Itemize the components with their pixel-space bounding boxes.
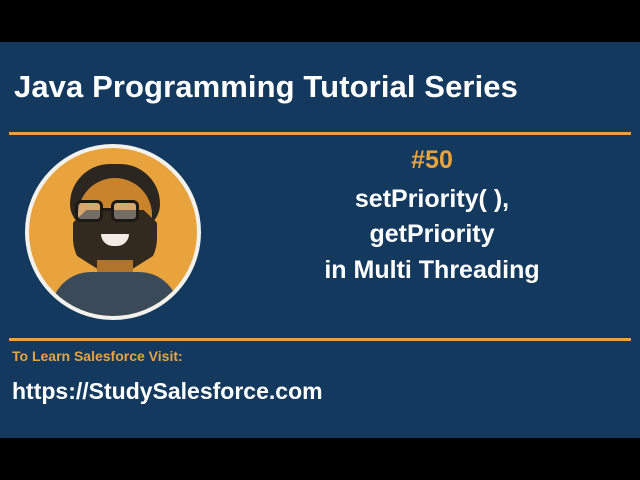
video-frame: Java Programming Tutorial Series #5 [0,0,640,480]
topic-line-1: setPriority( ), [232,182,632,218]
slide-body: #50 setPriority( ), getPriority in Multi… [0,135,640,338]
topic-column: #50 setPriority( ), getPriority in Multi… [232,135,632,338]
letterbox-top [0,0,640,42]
topic-line-2: getPriority [232,217,632,253]
portrait-glasses-left-icon [75,200,103,222]
title-band: Java Programming Tutorial Series [0,42,640,132]
portrait-glasses-bridge-icon [103,208,111,211]
footer-url[interactable]: https://StudySalesforce.com [12,378,640,406]
slide-card: Java Programming Tutorial Series #5 [0,42,640,438]
portrait-glasses-right-icon [111,200,139,222]
topic-title: setPriority( ), getPriority in Multi Thr… [232,182,632,289]
footer: To Learn Salesforce Visit: https://Study… [0,341,640,438]
avatar [25,144,201,320]
letterbox-bottom [0,438,640,480]
portrait-shirt-icon [51,272,179,320]
footer-label: To Learn Salesforce Visit: [12,348,640,365]
episode-number: #50 [232,146,632,175]
avatar-column [10,139,225,334]
series-title: Java Programming Tutorial Series [14,71,518,104]
topic-line-3: in Multi Threading [232,253,632,289]
